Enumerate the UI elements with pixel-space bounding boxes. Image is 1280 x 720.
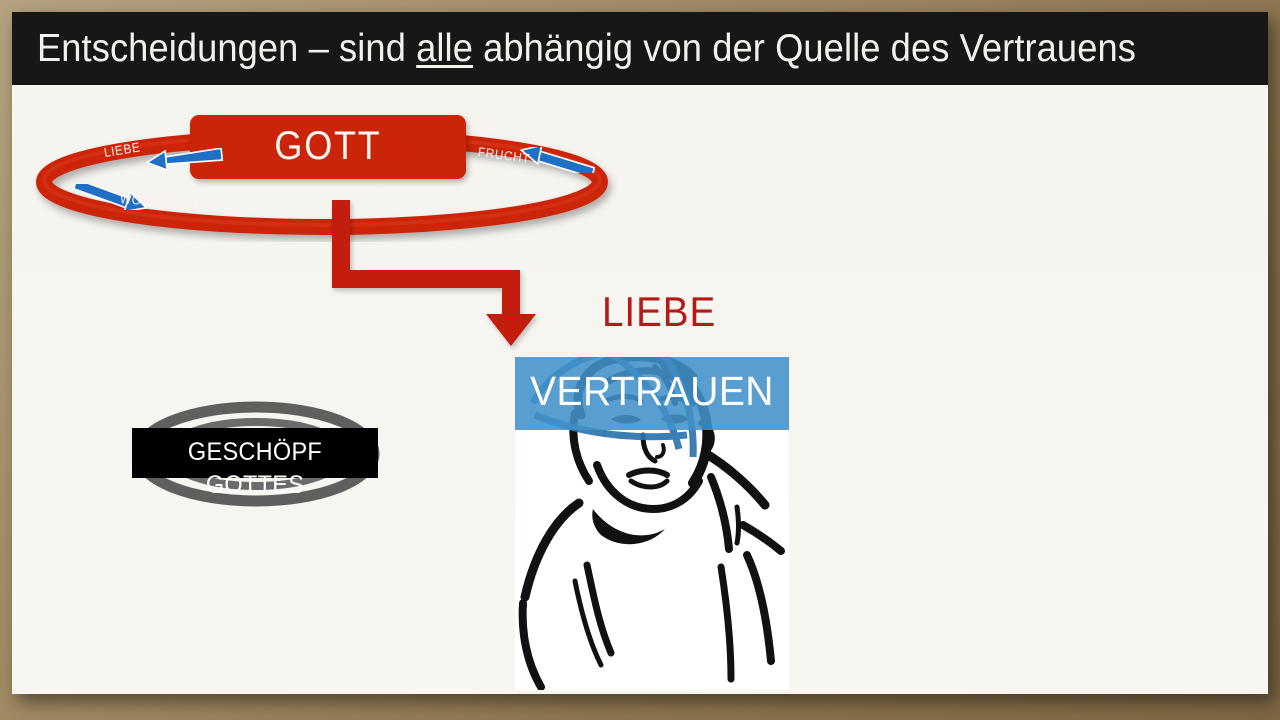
geschoepf-gottes-label: GESCHÖPF GOTTES <box>139 436 370 502</box>
geschoepf-gottes-box: GESCHÖPF GOTTES <box>132 428 378 478</box>
slide-frame: Entscheidungen – sind alle abhängig von … <box>0 0 1280 720</box>
geschoepf-gottes-badge[interactable]: GESCHÖPF GOTTES <box>132 397 394 515</box>
slide-canvas: Entscheidungen – sind alle abhängig von … <box>12 12 1268 694</box>
red-elbow-connector-arrow <box>312 200 572 360</box>
gott-label: GOTT <box>204 122 452 170</box>
gott-box[interactable]: GOTT <box>190 115 466 179</box>
vertrauen-label: VERTRAUEN <box>522 365 782 417</box>
liebe-arrow-icon <box>144 148 226 170</box>
liebe-caption: LIEBE <box>602 289 716 335</box>
vertrauen-band[interactable]: VERTRAUEN <box>515 357 789 430</box>
